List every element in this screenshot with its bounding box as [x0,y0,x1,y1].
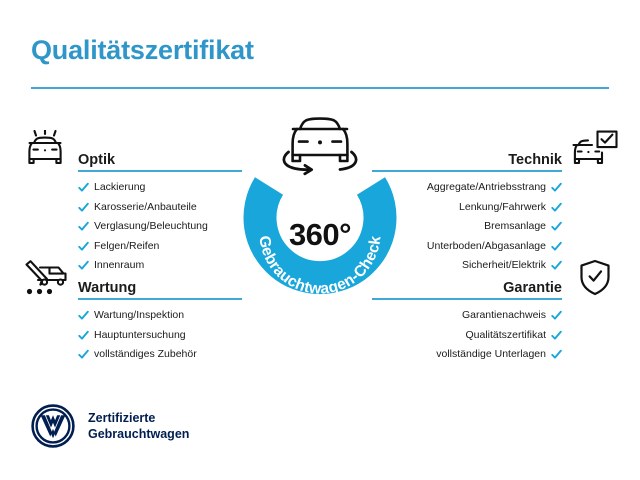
list-item-label: Verglasung/Beleuchtung [94,221,208,232]
section-wartung-divider [78,298,242,300]
list-item-label: vollständiges Zubehör [94,349,197,360]
shield-check-icon [570,258,620,298]
list-item: Verglasung/Beleuchtung [78,221,242,232]
section-wartung-title: Wartung [78,280,136,296]
list-item: Qualitätszertifikat [372,330,562,341]
section-garantie-header: Garantie [372,258,620,300]
list-item: Hauptuntersuchung [78,330,242,341]
section-garantie-title: Garantie [503,280,562,296]
list-item-label: Unterboden/Abgasanlage [427,241,546,252]
list-item-label: Qualitätszertifikat [465,330,546,341]
section-garantie-list: Garantienachweis Qualitätszertifikat vol… [372,300,620,360]
list-item-label: Hauptuntersuchung [94,330,186,341]
list-item-label: vollständige Unterlagen [436,349,546,360]
list-item-label: Felgen/Reifen [94,241,159,252]
list-item: Felgen/Reifen [78,241,242,252]
check-icon [551,241,562,252]
section-technik-header: Technik [372,130,620,172]
list-item: Wartung/Inspektion [78,310,242,321]
section-technik-list: Aggregate/Antriebsstrang Lenkung/Fahrwer… [372,172,620,271]
check-icon [78,330,89,341]
list-item: Lackierung [78,182,242,193]
section-optik-divider [78,170,242,172]
check-icon [78,310,89,321]
check-icon [551,221,562,232]
check-icon [551,349,562,360]
title-divider [31,87,609,89]
list-item-label: Garantienachweis [462,310,546,321]
list-item-label: Karosserie/Anbauteile [94,202,197,213]
volkswagen-logo [31,404,75,448]
footer-brand: Zertifizierte Gebrauchtwagen [31,404,189,448]
check-icon [78,202,89,213]
car-shine-icon [20,130,70,170]
list-item-label: Lenkung/Fahrwerk [459,202,546,213]
car-checkbox-icon [570,130,620,170]
footer-line-1: Zertifizierte [88,410,189,427]
check-icon [78,241,89,252]
list-item-label: Aggregate/Antriebsstrang [427,182,546,193]
section-optik-header: Optik [20,130,242,172]
check-icon [551,202,562,213]
list-item: vollständiges Zubehör [78,349,242,360]
certificate-page: Qualitätszertifikat Optik [0,0,640,480]
section-optik-list: Lackierung Karosserie/Anbauteile Verglas… [20,172,242,271]
check-icon [551,330,562,341]
footer-brand-text: Zertifizierte Gebrauchtwagen [88,410,189,443]
section-technik-title: Technik [508,152,562,168]
car-rotate-icon [272,110,368,176]
section-wartung: Wartung Wartung/Inspektion Hauptuntersuc… [20,258,242,369]
list-item: vollständige Unterlagen [372,349,562,360]
footer-line-2: Gebrauchtwagen [88,426,189,443]
check-icon [78,349,89,360]
list-item-label: Wartung/Inspektion [94,310,184,321]
check-icon [551,182,562,193]
list-item-label: Bremsanlage [484,221,546,232]
check-icon [78,221,89,232]
check-icon [78,182,89,193]
section-wartung-header: Wartung [20,258,242,300]
section-optik-title: Optik [78,152,115,168]
section-garantie: Garantie Garantienachweis Qualitätszerti… [372,258,620,369]
section-wartung-list: Wartung/Inspektion Hauptuntersuchung vol… [20,300,242,360]
list-item-label: Lackierung [94,182,145,193]
check-icon [551,310,562,321]
pen-car-service-icon [20,258,70,298]
page-title: Qualitätszertifikat [31,35,254,66]
list-item: Karosserie/Anbauteile [78,202,242,213]
